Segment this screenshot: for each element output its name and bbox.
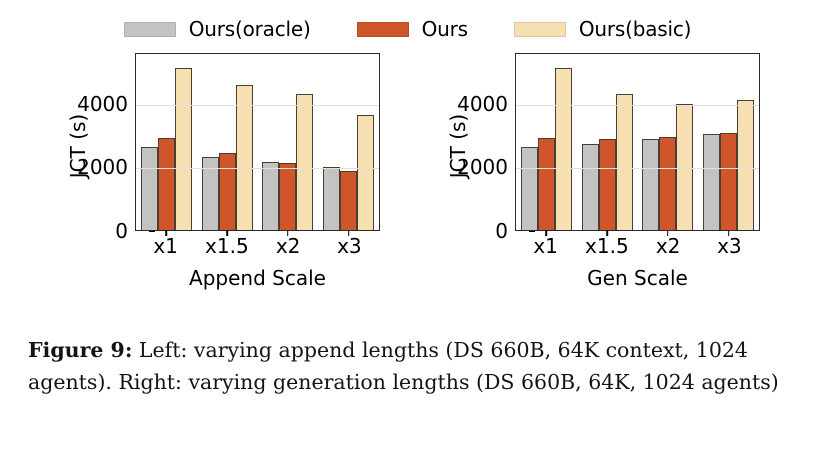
bar-group: [258, 54, 319, 230]
y-tick-label: 2000: [457, 157, 508, 177]
bar-group: [136, 54, 197, 230]
bar-group: [577, 54, 638, 230]
chart-panel-left: JCT (s) 020004000 x1x1.5x2x3 Append Scal…: [40, 50, 400, 310]
y-tick-label: 0: [115, 221, 128, 241]
bar-group: [318, 54, 379, 230]
bar: [737, 100, 754, 230]
bar-groups-left: [136, 54, 379, 230]
x-tick-label: x1: [515, 236, 576, 256]
bar: [616, 94, 633, 230]
x-tick-label: x1.5: [196, 236, 257, 256]
x-tick-label: x3: [699, 236, 760, 256]
gridline: [136, 105, 379, 106]
bar: [582, 144, 599, 230]
bar: [158, 138, 175, 230]
legend-entry: Ours(basic): [514, 19, 691, 39]
bar: [279, 163, 296, 230]
figure-caption-text: Left: varying append lengths (DS 660B, 6…: [28, 338, 779, 394]
y-tick-label: 4000: [77, 94, 128, 114]
x-axis-ticks-left: x1x1.5x2x3: [135, 236, 380, 256]
bar-group: [698, 54, 759, 230]
y-tick-label: 0: [495, 221, 508, 241]
bar: [141, 147, 158, 230]
x-tick-label: x3: [319, 236, 380, 256]
legend-entry: Ours(oracle): [124, 19, 311, 39]
bar: [357, 115, 374, 230]
bar: [659, 137, 676, 230]
bar: [521, 147, 538, 230]
bar: [538, 138, 555, 230]
x-tick-label: x1: [135, 236, 196, 256]
y-tick-label: 2000: [77, 157, 128, 177]
bar: [340, 171, 357, 230]
bar: [323, 167, 340, 230]
bar: [262, 162, 279, 230]
y-axis-ticks-left: 020004000: [60, 53, 128, 238]
chart-legend: Ours(oracle)OursOurs(basic): [0, 14, 815, 44]
figure-caption-label: Figure 9:: [28, 338, 132, 362]
bar-group: [638, 54, 699, 230]
x-tick-label: x2: [638, 236, 699, 256]
bar: [599, 139, 616, 230]
bar: [555, 68, 572, 230]
bar-group: [516, 54, 577, 230]
bar: [175, 68, 192, 230]
bar: [296, 94, 313, 230]
legend-swatch-gray: [124, 22, 176, 37]
bar: [219, 153, 236, 230]
bar-groups-right: [516, 54, 759, 230]
bar-group: [197, 54, 258, 230]
bar: [676, 104, 693, 230]
legend-entry: Ours: [357, 19, 468, 39]
plot-area-right: [515, 53, 760, 231]
legend-label: Ours(basic): [579, 19, 691, 39]
gridline: [516, 105, 759, 106]
x-axis-ticks-right: x1x1.5x2x3: [515, 236, 760, 256]
bar: [703, 134, 720, 230]
legend-label: Ours(oracle): [189, 19, 311, 39]
legend-swatch-cream: [514, 22, 566, 37]
figure-caption: Figure 9: Left: varying append lengths (…: [28, 334, 788, 399]
bar: [720, 133, 737, 230]
x-tick-label: x2: [258, 236, 319, 256]
y-tick-label: 4000: [457, 94, 508, 114]
plot-area-left: [135, 53, 380, 231]
figure-panel-container: Ours(oracle)OursOurs(basic) JCT (s) 0200…: [0, 0, 815, 320]
bar: [236, 85, 253, 230]
gridline: [516, 168, 759, 169]
legend-swatch-orange: [357, 22, 409, 37]
y-axis-ticks-right: 020004000: [440, 53, 508, 238]
bar: [642, 139, 659, 230]
x-axis-label-left: Append Scale: [135, 266, 380, 290]
x-axis-label-right: Gen Scale: [515, 266, 760, 290]
legend-label: Ours: [422, 19, 468, 39]
chart-panel-right: JCT (s) 020004000 x1x1.5x2x3 Gen Scale: [420, 50, 780, 310]
gridline: [136, 168, 379, 169]
x-tick-label: x1.5: [576, 236, 637, 256]
